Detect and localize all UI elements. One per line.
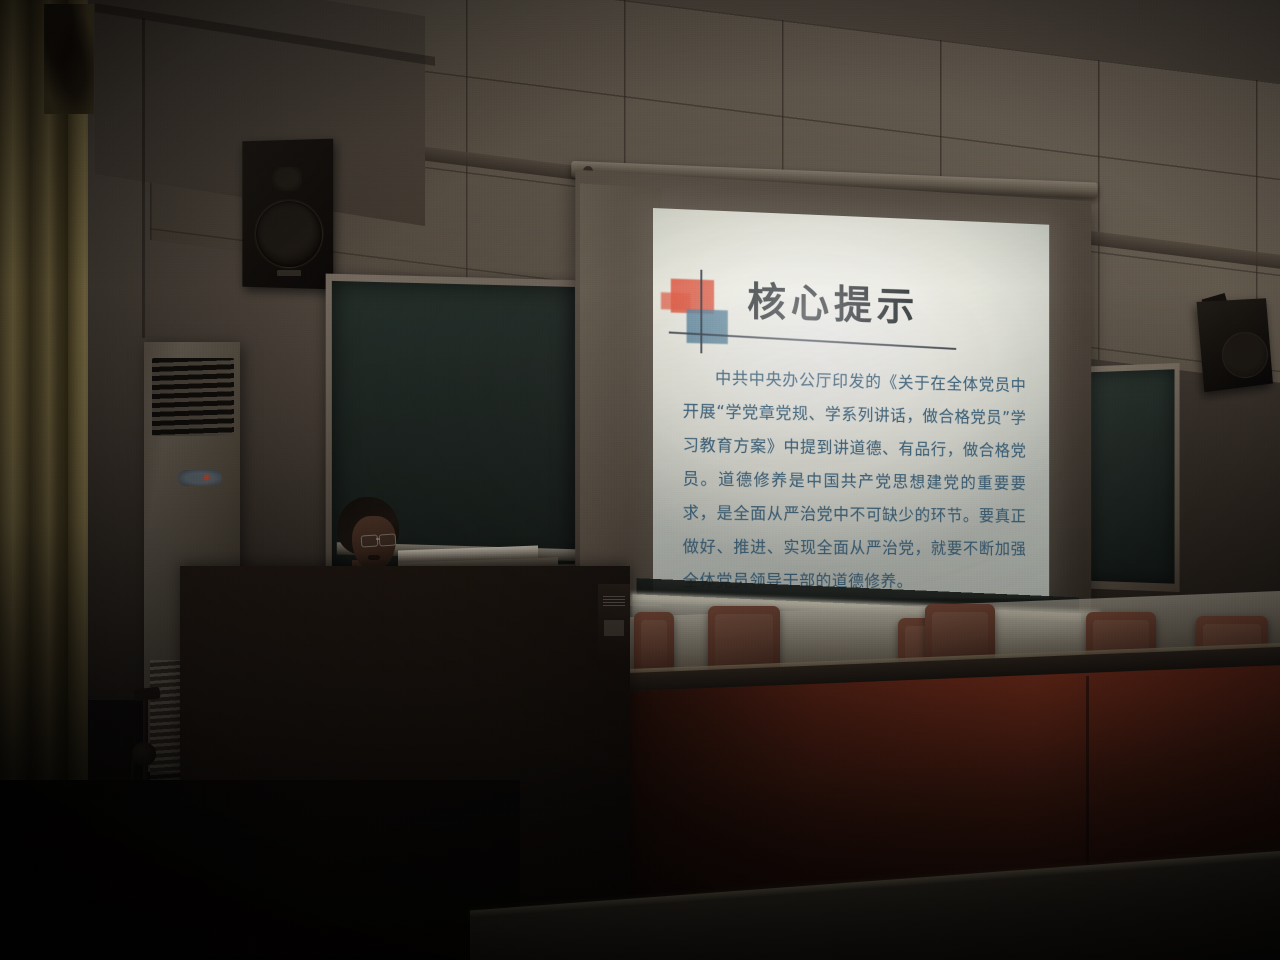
speaker-brand-badge (277, 270, 301, 276)
podium-panel-grille-icon (603, 596, 625, 606)
projected-slide: 核心提示 中共中央办公厅印发的《关于在全体党员中开展“学党章党规、学系列讲话，做… (653, 208, 1049, 598)
slide-title: 核心提示 (747, 269, 919, 332)
ac-power-led-icon (204, 475, 209, 480)
slide-content: 核心提示 中共中央办公厅印发的《关于在全体党员中开展“学党章党规、学系列讲话，做… (653, 208, 1049, 598)
speaker-tweeter-icon (272, 167, 302, 191)
slide-body-text: 中共中央办公厅印发的《关于在全体党员中开展“学党章党规、学系列讲话，做合格党员”… (683, 361, 1027, 599)
microphone-stand-clamp[interactable] (132, 742, 156, 766)
eyeglasses-left-lens-icon (361, 534, 379, 547)
speaker-woofer-icon (255, 200, 323, 268)
curtain-folds (44, 4, 94, 114)
foreground-shadow (0, 780, 520, 960)
ac-display-panel[interactable] (178, 470, 222, 486)
ac-louvers-icon (152, 358, 234, 436)
slide-deco-blue-square (687, 309, 728, 344)
lecture-hall-photo: 核心提示 中共中央办公厅印发的《关于在全体党员中开展“学党章党规、学系列讲话，做… (0, 0, 1280, 960)
presenter-mouth (368, 555, 380, 560)
blackboard-right-surface (1077, 369, 1174, 583)
podium-panel-plate (604, 620, 624, 636)
screen-left-margin (580, 183, 661, 606)
eyeglasses-right-lens-icon (379, 533, 397, 546)
slide-deco-vertical-line (700, 270, 702, 354)
dais-panel-seam (1086, 676, 1089, 891)
wall-seam (142, 18, 145, 338)
